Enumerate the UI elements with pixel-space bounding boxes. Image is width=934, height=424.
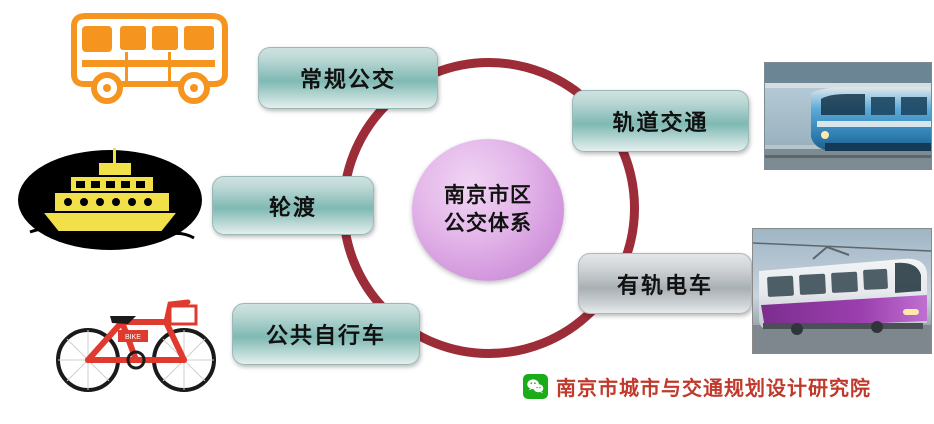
bicycle-illustration: BIKE (52, 276, 220, 398)
center-node-line2: 公交体系 (444, 210, 532, 238)
metro-photo (764, 62, 932, 170)
tram-photo (752, 228, 932, 354)
node-rail-transit[interactable]: 轨道交通 (572, 90, 749, 152)
ferry-illustration (12, 140, 208, 262)
footer-text: 南京市城市与交通规划设计研究院 (556, 372, 871, 401)
bus-illustration (62, 8, 237, 108)
diagram-canvas: 南京市区 公交体系 常规公交 轨道交通 轮渡 有轨电车 公共自行车 (0, 0, 934, 424)
svg-text:BIKE: BIKE (125, 334, 141, 341)
center-node: 南京市区 公交体系 (412, 139, 564, 281)
footer-watermark: 南京市城市与交通规划设计研究院 (523, 372, 871, 401)
node-public-bicycle[interactable]: 公共自行车 (232, 303, 420, 365)
node-rail-transit-label: 轨道交通 (612, 105, 708, 137)
node-public-bicycle-label: 公共自行车 (266, 318, 386, 350)
wechat-icon (523, 374, 548, 399)
node-tram[interactable]: 有轨电车 (578, 253, 752, 314)
node-regular-bus[interactable]: 常规公交 (258, 47, 438, 109)
center-node-line1: 南京市区 (444, 182, 532, 210)
node-ferry[interactable]: 轮渡 (212, 176, 374, 235)
node-tram-label: 有轨电车 (617, 268, 713, 300)
node-ferry-label: 轮渡 (269, 190, 317, 222)
node-regular-bus-label: 常规公交 (300, 62, 396, 94)
